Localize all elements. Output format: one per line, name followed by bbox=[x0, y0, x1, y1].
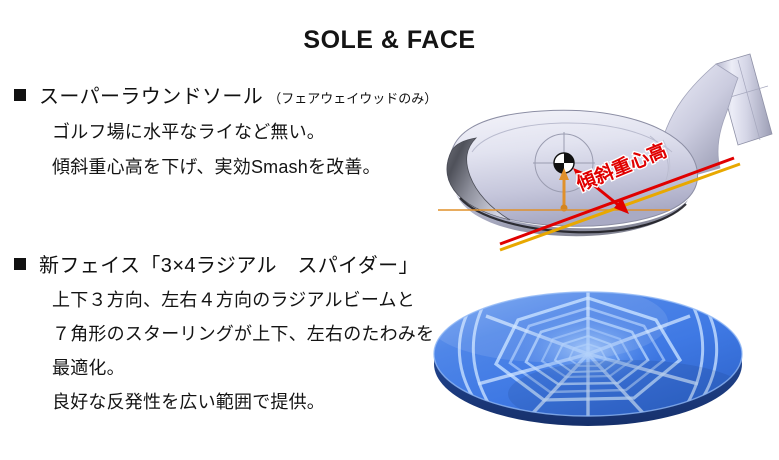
square-bullet-icon bbox=[14, 258, 26, 270]
section-face-line-1: 上下３方向、左右４方向のラジアルビームと bbox=[52, 286, 434, 312]
slide-canvas: SOLE & FACE スーパーラウンドソール （フェアウェイウッドのみ） ゴル… bbox=[0, 0, 779, 460]
square-bullet-icon bbox=[14, 89, 26, 101]
section-face-heading: 新フェイス「3×4ラジアル スパイダー」 bbox=[14, 249, 434, 278]
section-sole-heading: スーパーラウンドソール （フェアウェイウッドのみ） bbox=[14, 80, 437, 109]
section-sole-heading-sub: （フェアウェイウッドのみ） bbox=[268, 88, 437, 107]
section-face-line-4: 良好な反発性を広い範囲で提供。 bbox=[52, 388, 434, 414]
section-face-heading-main: 新フェイス「3×4ラジアル スパイダー」 bbox=[39, 249, 419, 278]
section-sole-heading-main: スーパーラウンドソール bbox=[39, 80, 263, 109]
section-face-line-3: 最適化。 bbox=[52, 354, 434, 380]
section-sole-line-1: ゴルフ場に水平なライなど無い。 bbox=[52, 118, 437, 144]
section-sole-line-2: 傾斜重心高を下げ、実効Smashを改善。 bbox=[52, 153, 437, 179]
section-face: 新フェイス「3×4ラジアル スパイダー」 上下３方向、左右４方向のラジアルビーム… bbox=[14, 249, 434, 414]
face-insert-illustration bbox=[398, 268, 779, 460]
club-head-illustration: 傾斜重心高 bbox=[420, 48, 779, 260]
section-sole: スーパーラウンドソール （フェアウェイウッドのみ） ゴルフ場に水平なライなど無い… bbox=[14, 80, 437, 179]
section-face-line-2: ７角形のスターリングが上下、左右のたわみを bbox=[52, 320, 434, 346]
